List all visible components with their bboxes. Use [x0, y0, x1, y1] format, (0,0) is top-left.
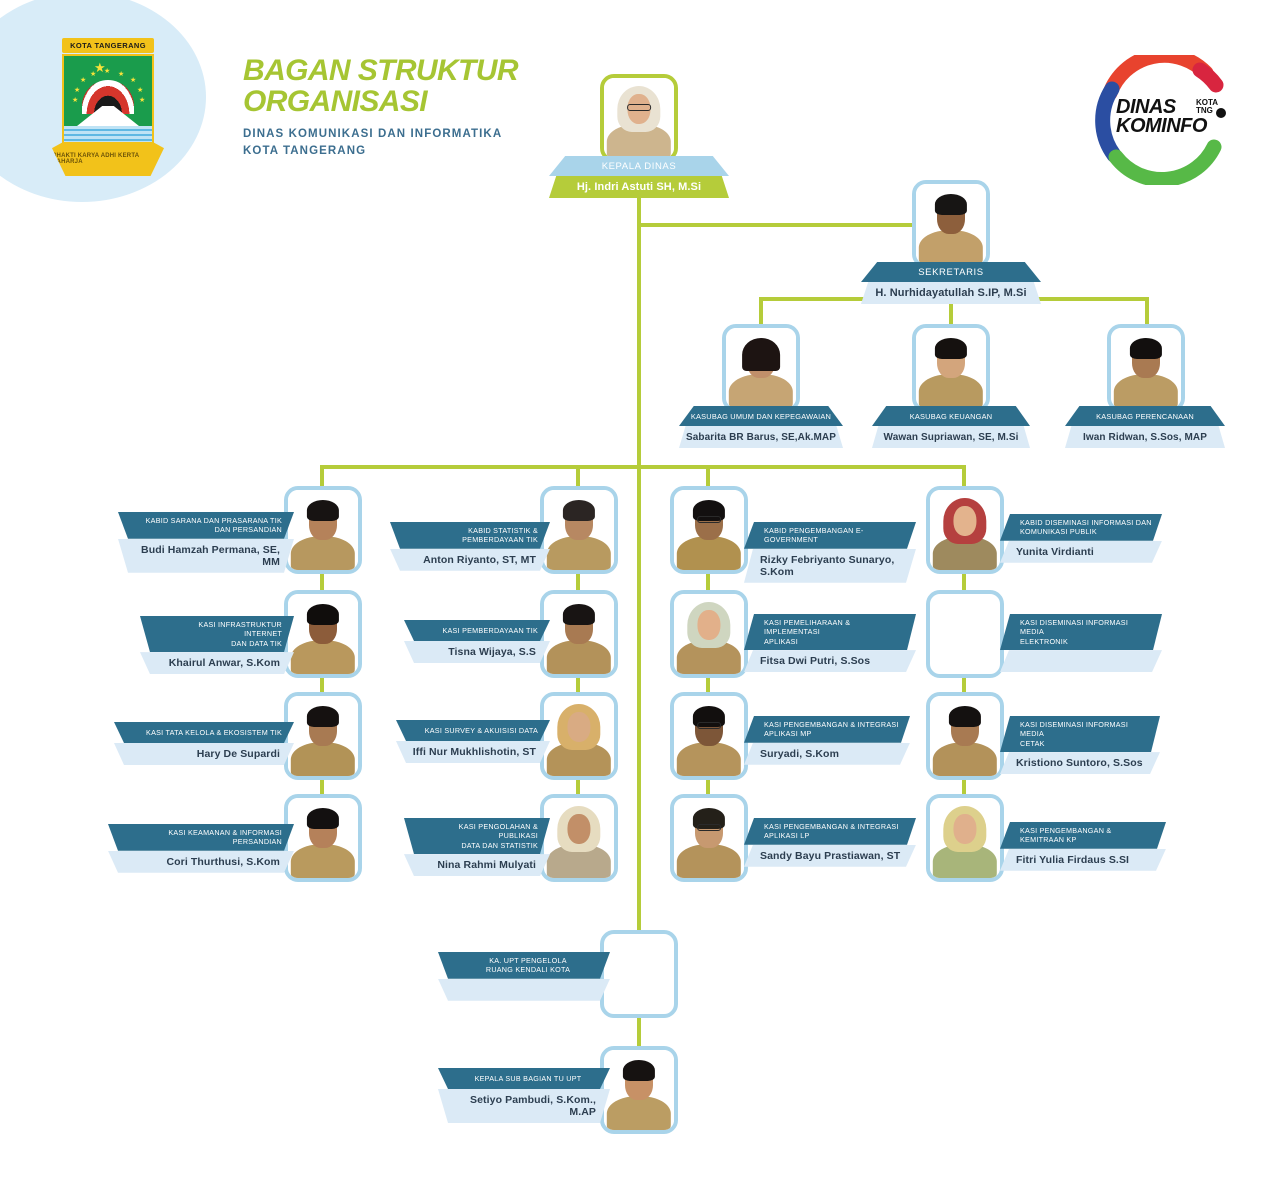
label-col2-item2-title-line1: KASI SURVEY & AKUISISI DATA: [425, 726, 538, 735]
label-col3-item1-title-wrap: KASI PEMELIHARAAN & IMPLEMENTASI APLIKAS…: [744, 614, 916, 650]
connector-kasubag-drop-1: [759, 297, 763, 325]
label-col1-item2-name: Hary De Supardi: [197, 748, 280, 760]
label-kasubag-3: KASUBAG PERENCANAAN Iwan Ridwan, S.Sos, …: [1065, 406, 1225, 448]
label-kepala-dinas-title-wrap: KEPALA DINAS: [549, 156, 729, 176]
label-col4-head-title-line2: KOMUNIKASI PUBLIK: [1020, 527, 1097, 536]
label-kasubag-1-title: KASUBAG UMUM DAN KEPEGAWAIAN: [691, 412, 831, 421]
label-col1-item3-name: Cori Thurthusi, S.Kom: [166, 856, 280, 868]
label-col4-item3-title-line1: KASI PENGEMBANGAN & KEMITRAAN KP: [1020, 826, 1157, 845]
label-kasubag-3-name-wrap: Iwan Ridwan, S.Sos, MAP: [1065, 426, 1225, 448]
label-col1-item1-title-wrap: KASI INFRASTRUKTUR INTERNET DAN DATA TIK: [140, 616, 294, 652]
label-sekretaris-title: SEKRETARIS: [918, 267, 983, 278]
label-col2-head-title-line1: KABID STATISTIK & PEMBERDAYAAN TIK: [410, 526, 538, 545]
avatar-col3-head: [674, 490, 744, 570]
label-col2-item2-name-wrap: Iffi Nur Mukhlishotin, ST: [396, 741, 550, 763]
label-col2-item3-name-wrap: Nina Rahmi Mulyati: [404, 854, 550, 876]
label-col3-head-title-line1: KABID PENGEMBANGAN E-GOVERNMENT: [764, 526, 907, 545]
avatar-col2-item3: [544, 798, 614, 878]
photo-col4-item2: [926, 692, 1004, 780]
label-col4-head: KABID DISEMINASI INFORMASI DAN KOMUNIKAS…: [1000, 514, 1162, 563]
kominfo-city-badge: KOTA TNG: [1196, 99, 1218, 116]
kominfo-wordmark: DINAS KOMINFO: [1116, 98, 1246, 136]
label-col4-item1-title-line2: ELEKTRONIK: [1020, 637, 1068, 646]
label-col4-item2-name: Kristiono Suntoro, S.Sos: [1016, 757, 1143, 769]
label-kasubag-3-name: Iwan Ridwan, S.Sos, MAP: [1083, 432, 1207, 443]
label-upt-tu-title-line1: KEPALA SUB BAGIAN TU UPT: [475, 1074, 582, 1083]
label-col1-item3-title-wrap: KASI KEAMANAN & INFORMASI PERSANDIAN: [108, 824, 294, 851]
connector-kasubag-drop-3: [1145, 297, 1149, 325]
label-col2-item2-title-wrap: KASI SURVEY & AKUISISI DATA: [396, 720, 550, 741]
label-col3-item2-title-line2: APLIKASI MP: [764, 729, 812, 738]
photo-col3-item1: [670, 590, 748, 678]
label-col2-item1-name: Tisna Wijaya, S.S: [448, 646, 536, 658]
photo-col3-head: [670, 486, 748, 574]
label-col1-item1-title-line2: DAN DATA TIK: [231, 639, 282, 648]
label-col1-item3: KASI KEAMANAN & INFORMASI PERSANDIAN Cor…: [108, 824, 294, 873]
label-upt-head-title-line1: KA. UPT PENGELOLA: [489, 956, 567, 965]
avatar-col3-item1: [674, 594, 744, 674]
crest-motto-label: BHAKTI KARYA ADHI KERTA RAHARJA: [52, 153, 164, 165]
photo-col4-item3: [926, 794, 1004, 882]
connector-kabid-bus: [320, 465, 966, 469]
crest-city-band: KOTA TANGERANG: [62, 38, 154, 53]
avatar-upt-head-empty: [604, 934, 674, 1014]
label-col3-item3-name-wrap: Sandy Bayu Prastiawan, ST: [744, 845, 916, 867]
photo-col1-item3: [284, 794, 362, 882]
photo-col3-item3: [670, 794, 748, 882]
label-col1-item2: KASI TATA KELOLA & EKOSISTEM TIK Hary De…: [114, 722, 294, 765]
label-kepala-dinas-name-wrap: Hj. Indri Astuti SH, M.Si: [549, 176, 729, 198]
photo-upt-tu: [600, 1046, 678, 1134]
label-col2-item3-title-line1: KASI PENGOLAHAN & PUBLIKASI: [459, 822, 538, 840]
label-col3-item2-name-wrap: Suryadi, S.Kom: [744, 743, 910, 765]
kota-tangerang-crest-logo: KOTA TANGERANG ★ ★★★ ★★★ ★★★ BHAKTI KARY…: [50, 38, 166, 180]
avatar-col2-head: [544, 490, 614, 570]
label-col1-item1-name-wrap: Khairul Anwar, S.Kom: [140, 652, 294, 674]
label-col1-item2-title-wrap: KASI TATA KELOLA & EKOSISTEM TIK: [114, 722, 294, 743]
label-col1-item2-title-line1: KASI TATA KELOLA & EKOSISTEM TIK: [146, 728, 282, 737]
label-col2-item1-title-line1: KASI PEMBERDAYAAN TIK: [442, 626, 538, 635]
label-col3-item3-title-line1: KASI PENGEMBANGAN & INTEGRASI: [764, 822, 899, 831]
avatar-kasubag-1: [726, 328, 796, 408]
avatar-kasubag-2: [916, 328, 986, 408]
label-upt-tu-title-wrap: KEPALA SUB BAGIAN TU UPT: [438, 1068, 610, 1089]
page-title-line1: BAGAN STRUKTUR: [243, 56, 573, 87]
connector-kd-to-sekretaris: [637, 223, 953, 227]
label-col1-item2-name-wrap: Hary De Supardi: [114, 743, 294, 765]
avatar-col2-item2: [544, 696, 614, 776]
label-col1-head-name-wrap: Budi Hamzah Permana, SE, MM: [118, 539, 294, 573]
label-col4-item2-name-wrap: Kristiono Suntoro, S.Sos: [1000, 752, 1160, 774]
avatar-col1-item3: [288, 798, 358, 878]
avatar-sekretaris: [916, 184, 986, 264]
photo-kasubag-1: [722, 324, 800, 412]
label-col1-item3-name-wrap: Cori Thurthusi, S.Kom: [108, 851, 294, 873]
label-col3-head: KABID PENGEMBANGAN E-GOVERNMENT Rizky Fe…: [744, 522, 916, 583]
avatar-col3-item3: [674, 798, 744, 878]
label-col2-head-title-wrap: KABID STATISTIK & PEMBERDAYAAN TIK: [390, 522, 550, 549]
photo-kasubag-2: [912, 324, 990, 412]
photo-kasubag-3: [1107, 324, 1185, 412]
avatar-kepala-dinas: [604, 78, 674, 158]
label-col4-item1-title-wrap: KASI DISEMINASI INFORMASI MEDIA ELEKTRON…: [1000, 614, 1162, 650]
avatar-col3-item2: [674, 696, 744, 776]
label-col3-item1: KASI PEMELIHARAAN & IMPLEMENTASI APLIKAS…: [744, 614, 916, 672]
label-col4-item1-title-line1: KASI DISEMINASI INFORMASI MEDIA: [1020, 618, 1128, 636]
avatar-col4-item1-empty: [930, 594, 1000, 674]
label-upt-tu-name: Setiyo Pambudi, S.Kom., M.AP: [454, 1094, 596, 1118]
label-col1-item1-title-line1: KASI INFRASTRUKTUR INTERNET: [198, 620, 282, 638]
label-col4-item2-title-wrap: KASI DISEMINASI INFORMASI MEDIA CETAK: [1000, 716, 1160, 752]
label-col4-item3: KASI PENGEMBANGAN & KEMITRAAN KP Fitri Y…: [1000, 822, 1166, 871]
label-col1-item1-name: Khairul Anwar, S.Kom: [169, 657, 280, 669]
label-col4-item2-title-line1: KASI DISEMINASI INFORMASI MEDIA: [1020, 720, 1128, 738]
label-kasubag-2: KASUBAG KEUANGAN Wawan Supriawan, SE, M.…: [872, 406, 1030, 448]
photo-col1-head: [284, 486, 362, 574]
label-kasubag-3-title: KASUBAG PERENCANAAN: [1096, 412, 1194, 421]
label-col4-head-name: Yunita Virdianti: [1016, 546, 1094, 558]
label-sekretaris-name: H. Nurhidayatullah S.IP, M.Si: [875, 287, 1026, 299]
label-col2-item3-title-line2: DATA DAN STATISTIK: [461, 841, 538, 850]
label-col2-item3-name: Nina Rahmi Mulyati: [437, 859, 536, 871]
label-kasubag-3-title-wrap: KASUBAG PERENCANAAN: [1065, 406, 1225, 426]
label-col1-head-name: Budi Hamzah Permana, SE, MM: [134, 544, 280, 568]
label-col3-item2-name: Suryadi, S.Kom: [760, 748, 839, 760]
label-kasubag-2-name: Wawan Supriawan, SE, M.Si: [884, 432, 1019, 443]
avatar-kasubag-3: [1111, 328, 1181, 408]
photo-sekretaris: [912, 180, 990, 268]
photo-col2-item1: [540, 590, 618, 678]
label-upt-head-title-wrap: KA. UPT PENGELOLA RUANG KENDALI KOTA: [438, 952, 610, 979]
photo-col1-item1: [284, 590, 362, 678]
label-col2-item1: KASI PEMBERDAYAAN TIK Tisna Wijaya, S.S: [404, 620, 550, 663]
photo-col1-item2: [284, 692, 362, 780]
avatar-col2-item1: [544, 594, 614, 674]
label-kepala-dinas-title: KEPALA DINAS: [602, 161, 677, 172]
label-col3-item3-name: Sandy Bayu Prastiawan, ST: [760, 850, 900, 862]
photo-col4-item1: [926, 590, 1004, 678]
label-col3-item1-name-wrap: Fitsa Dwi Putri, S.Sos: [744, 650, 916, 672]
label-col3-item3: KASI PENGEMBANGAN & INTEGRASI APLIKASI L…: [744, 818, 916, 867]
label-kasubag-2-name-wrap: Wawan Supriawan, SE, M.Si: [872, 426, 1030, 448]
photo-upt-head: [600, 930, 678, 1018]
label-col4-item2-title-line2: CETAK: [1020, 739, 1045, 748]
photo-kepala-dinas: [600, 74, 678, 162]
label-col3-item1-name: Fitsa Dwi Putri, S.Sos: [760, 655, 870, 667]
label-col2-item3: KASI PENGOLAHAN & PUBLIKASI DATA DAN STA…: [404, 818, 550, 876]
label-col3-head-title-wrap: KABID PENGEMBANGAN E-GOVERNMENT: [744, 522, 916, 549]
label-upt-head-title-line2: RUANG KENDALI KOTA: [486, 965, 570, 974]
photo-col2-item3: [540, 794, 618, 882]
dinas-kominfo-logo: DINAS KOMINFO KOTA TNG: [1088, 55, 1244, 185]
label-col3-head-name-wrap: Rizky Febriyanto Sunaryo, S.Kom: [744, 549, 916, 583]
kominfo-badge-line2: TNG: [1196, 107, 1218, 115]
photo-col2-head: [540, 486, 618, 574]
page-subtitle-line2: KOTA TANGERANG: [243, 143, 573, 159]
kominfo-line2: KOMINFO: [1116, 117, 1246, 136]
label-col3-item1-title-line2: APLIKASI: [764, 637, 798, 646]
page-subtitle-line1: DINAS KOMUNIKASI DAN INFORMATIKA: [243, 126, 573, 142]
label-col1-head-title-wrap: KABID SARANA DAN PRASARANA TIK DAN PERSA…: [118, 512, 294, 539]
label-kepala-dinas-name: Hj. Indri Astuti SH, M.Si: [577, 181, 701, 193]
label-upt-head: KA. UPT PENGELOLA RUANG KENDALI KOTA: [438, 952, 610, 1001]
page-title-block: BAGAN STRUKTUR ORGANISASI DINAS KOMUNIKA…: [243, 56, 573, 159]
label-col4-item1-name-wrap: [1000, 650, 1162, 672]
label-col2-item1-name-wrap: Tisna Wijaya, S.S: [404, 641, 550, 663]
label-col1-head-title-line1: KABID SARANA DAN PRASARANA TIK: [146, 516, 282, 525]
label-col2-item3-title-wrap: KASI PENGOLAHAN & PUBLIKASI DATA DAN STA…: [404, 818, 550, 854]
label-col4-item3-name: Fitri Yulia Firdaus S.SI: [1016, 854, 1129, 866]
label-kasubag-1: KASUBAG UMUM DAN KEPEGAWAIAN Sabarita BR…: [679, 406, 843, 448]
avatar-upt-tu: [604, 1050, 674, 1130]
label-col4-item3-name-wrap: Fitri Yulia Firdaus S.SI: [1000, 849, 1166, 871]
avatar-col4-item2: [930, 696, 1000, 776]
avatar-col1-item2: [288, 696, 358, 776]
label-col2-item1-title-wrap: KASI PEMBERDAYAAN TIK: [404, 620, 550, 641]
label-col4-head-title-line1: KABID DISEMINASI INFORMASI DAN: [1020, 518, 1152, 527]
avatar-col4-head: [930, 490, 1000, 570]
label-col2-item2: KASI SURVEY & AKUISISI DATA Iffi Nur Muk…: [396, 720, 550, 763]
label-col3-head-name: Rizky Febriyanto Sunaryo, S.Kom: [760, 554, 904, 578]
label-col2-head: KABID STATISTIK & PEMBERDAYAAN TIK Anton…: [390, 522, 550, 571]
label-sekretaris: SEKRETARIS H. Nurhidayatullah S.IP, M.Si: [861, 262, 1041, 304]
connector-kd-stem: [637, 190, 641, 930]
label-kasubag-1-title-wrap: KASUBAG UMUM DAN KEPEGAWAIAN: [679, 406, 843, 426]
label-col4-item3-title-wrap: KASI PENGEMBANGAN & KEMITRAAN KP: [1000, 822, 1166, 849]
label-col2-item2-name: Iffi Nur Mukhlishotin, ST: [413, 746, 536, 758]
label-kasubag-2-title-wrap: KASUBAG KEUANGAN: [872, 406, 1030, 426]
photo-col3-item2: [670, 692, 748, 780]
label-col1-item1: KASI INFRASTRUKTUR INTERNET DAN DATA TIK…: [140, 616, 294, 674]
label-sekretaris-title-wrap: SEKRETARIS: [861, 262, 1041, 282]
org-chart-page: KOTA TANGERANG ★ ★★★ ★★★ ★★★ BHAKTI KARY…: [0, 0, 1280, 1177]
label-col1-head: KABID SARANA DAN PRASARANA TIK DAN PERSA…: [118, 512, 294, 573]
avatar-col1-item1: [288, 594, 358, 674]
photo-col4-head: [926, 486, 1004, 574]
label-col2-head-name-wrap: Anton Riyanto, ST, MT: [390, 549, 550, 571]
label-sekretaris-name-wrap: H. Nurhidayatullah S.IP, M.Si: [861, 282, 1041, 304]
avatar-col4-item3: [930, 798, 1000, 878]
label-kasubag-1-name-wrap: Sabarita BR Barus, SE,Ak.MAP: [679, 426, 843, 448]
label-col4-head-name-wrap: Yunita Virdianti: [1000, 541, 1162, 563]
label-col3-item3-title-wrap: KASI PENGEMBANGAN & INTEGRASI APLIKASI L…: [744, 818, 916, 845]
label-kasubag-2-title: KASUBAG KEUANGAN: [910, 412, 992, 421]
page-title-line2: ORGANISASI: [243, 87, 573, 118]
avatar-col1-head: [288, 490, 358, 570]
label-col4-item1: KASI DISEMINASI INFORMASI MEDIA ELEKTRON…: [1000, 614, 1162, 672]
label-col3-item2: KASI PENGEMBANGAN & INTEGRASI APLIKASI M…: [744, 716, 910, 765]
label-col1-head-title-line2: DAN PERSANDIAN: [215, 525, 282, 534]
label-col4-item2: KASI DISEMINASI INFORMASI MEDIA CETAK Kr…: [1000, 716, 1160, 774]
label-upt-tu: KEPALA SUB BAGIAN TU UPT Setiyo Pambudi,…: [438, 1068, 610, 1123]
label-col3-item1-title-line1: KASI PEMELIHARAAN & IMPLEMENTASI: [764, 618, 850, 636]
label-col3-item2-title-wrap: KASI PENGEMBANGAN & INTEGRASI APLIKASI M…: [744, 716, 910, 743]
label-col3-item2-title-line1: KASI PENGEMBANGAN & INTEGRASI: [764, 720, 899, 729]
label-col2-head-name: Anton Riyanto, ST, MT: [423, 554, 536, 566]
crest-city-label: KOTA TANGERANG: [70, 41, 146, 50]
label-kasubag-1-name: Sabarita BR Barus, SE,Ak.MAP: [686, 432, 836, 443]
label-kepala-dinas: KEPALA DINAS Hj. Indri Astuti SH, M.Si: [549, 156, 729, 198]
label-col4-head-title-wrap: KABID DISEMINASI INFORMASI DAN KOMUNIKAS…: [1000, 514, 1162, 541]
photo-col2-item2: [540, 692, 618, 780]
label-upt-head-name-wrap: [438, 979, 610, 1001]
label-col3-item3-title-line2: APLIKASI LP: [764, 831, 810, 840]
label-col1-item3-title-line1: KASI KEAMANAN & INFORMASI PERSANDIAN: [128, 828, 282, 847]
crest-motto-ribbon: BHAKTI KARYA ADHI KERTA RAHARJA: [52, 142, 164, 176]
label-upt-tu-name-wrap: Setiyo Pambudi, S.Kom., M.AP: [438, 1089, 610, 1123]
